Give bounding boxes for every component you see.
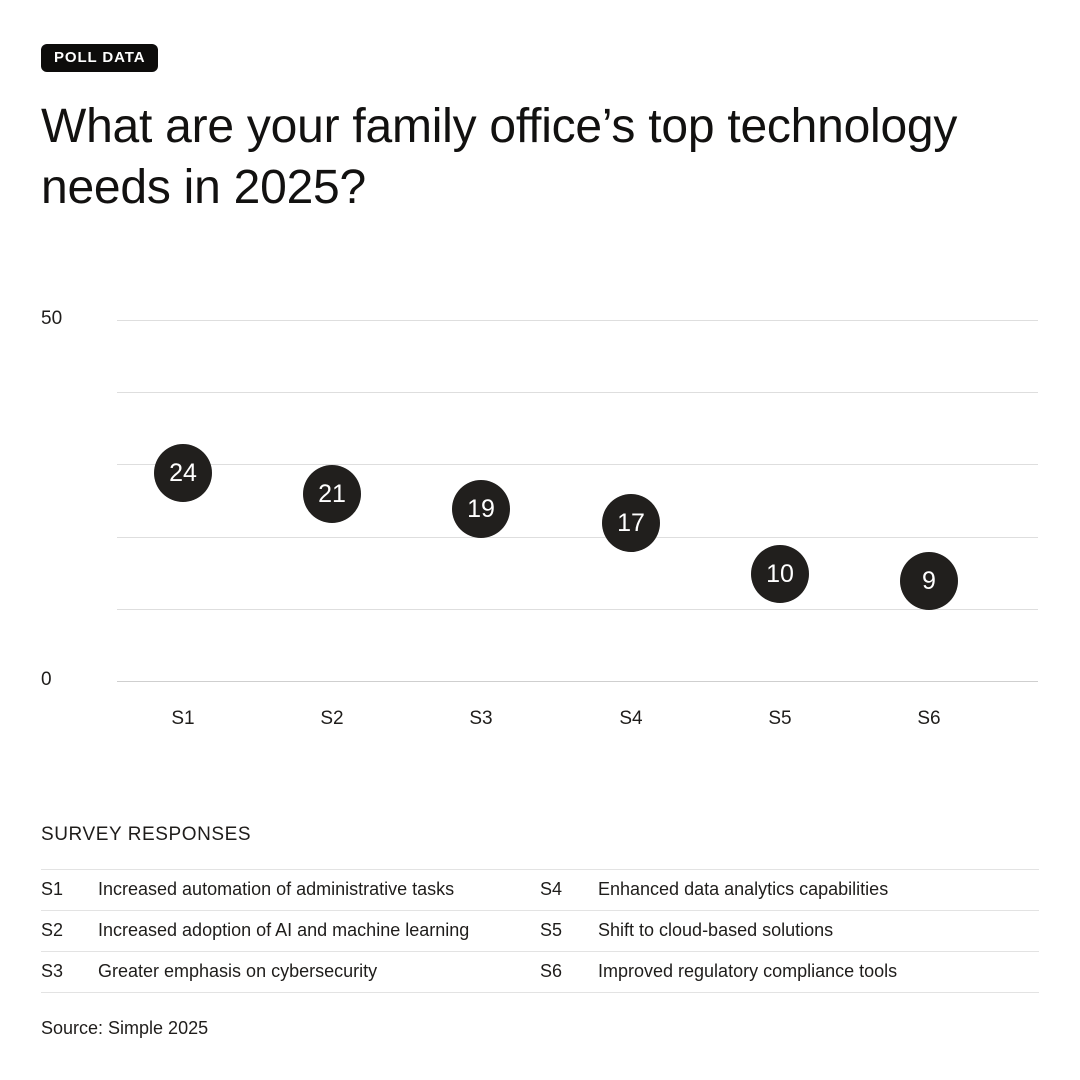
response-label-S1: Increased automation of administrative t… — [98, 870, 540, 911]
gridline-10 — [117, 609, 1038, 610]
data-label-S5: 10 — [751, 545, 809, 603]
x-axis-label-S1: S1 — [113, 708, 253, 730]
response-label-S6: Improved regulatory compliance tools — [598, 952, 1039, 993]
data-label-S3: 19 — [452, 480, 510, 538]
response-code-S5: S5 — [540, 911, 598, 952]
x-axis-label-S2: S2 — [262, 708, 402, 730]
survey-responses-heading: SURVEY RESPONSES — [41, 824, 251, 846]
response-label-S5: Shift to cloud-based solutions — [598, 911, 1039, 952]
source-note: Source: Simple 2025 — [41, 1018, 208, 1039]
data-label-S2: 21 — [303, 465, 361, 523]
x-axis-label-S3: S3 — [411, 708, 551, 730]
gridline-50 — [117, 320, 1038, 321]
table-row: S1Increased automation of administrative… — [41, 870, 1039, 911]
response-code-S4: S4 — [540, 870, 598, 911]
poll-data-chart-card: POLL DATA What are your family office’s … — [0, 0, 1080, 1080]
y-axis-tick-min: 0 — [41, 669, 61, 691]
response-label-S4: Enhanced data analytics capabilities — [598, 870, 1039, 911]
gridline-30 — [117, 464, 1038, 465]
data-label-S6: 9 — [900, 552, 958, 610]
table-row: S2Increased adoption of AI and machine l… — [41, 911, 1039, 952]
response-code-S6: S6 — [540, 952, 598, 993]
page-title: What are your family office’s top techno… — [41, 96, 1001, 219]
data-label-S4: 17 — [602, 494, 660, 552]
response-code-S1: S1 — [41, 870, 98, 911]
y-axis-tick-max: 50 — [41, 308, 61, 330]
data-label-S1: 24 — [154, 444, 212, 502]
response-code-S2: S2 — [41, 911, 98, 952]
table-row: S3Greater emphasis on cybersecurityS6Imp… — [41, 952, 1039, 993]
x-axis-label-S5: S5 — [710, 708, 850, 730]
response-label-S2: Increased adoption of AI and machine lea… — [98, 911, 540, 952]
gridline-40 — [117, 392, 1038, 393]
response-label-S3: Greater emphasis on cybersecurity — [98, 952, 540, 993]
x-axis-label-S4: S4 — [561, 708, 701, 730]
x-axis-label-S6: S6 — [859, 708, 999, 730]
gridline-20 — [117, 537, 1038, 538]
kicker-badge: POLL DATA — [41, 44, 158, 72]
response-code-S3: S3 — [41, 952, 98, 993]
survey-responses-table: S1Increased automation of administrative… — [41, 869, 1039, 993]
axis-baseline — [117, 681, 1038, 682]
